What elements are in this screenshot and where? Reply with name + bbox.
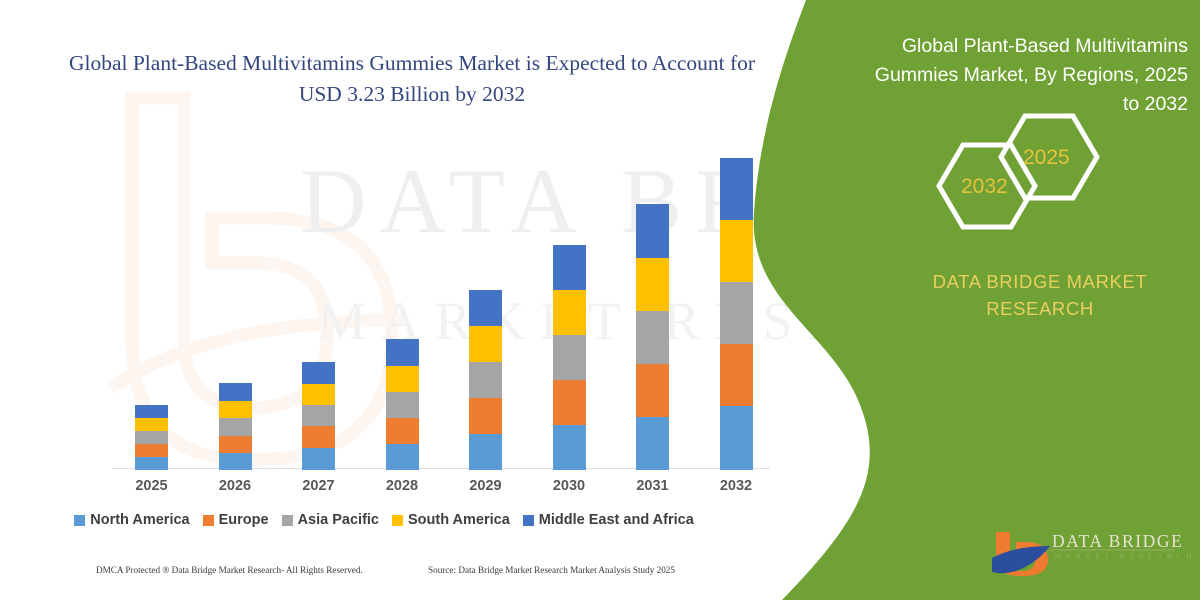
bar-segment-south-america: [720, 220, 753, 282]
x-axis-label-2025: 2025: [122, 478, 182, 494]
hex-label-2032: 2032: [961, 175, 1008, 199]
bar-segment-middle-east-and-africa: [386, 339, 419, 366]
logo-title: DATA BRIDGE: [1052, 531, 1183, 552]
bar-segment-europe: [469, 398, 502, 434]
chart-x-axis-labels: 20252026202720282029203020312032: [110, 478, 770, 500]
hex-label-2025: 2025: [1023, 146, 1070, 170]
legend-swatch-icon: [392, 515, 403, 526]
bar-segment-south-america: [636, 258, 669, 311]
bar-segment-south-america: [302, 384, 335, 405]
bar-segment-south-america: [135, 418, 168, 431]
bar-segment-north-america: [135, 457, 168, 470]
x-axis-label-2026: 2026: [205, 478, 265, 494]
bar-segment-asia-pacific: [135, 431, 168, 444]
bar-segment-asia-pacific: [219, 418, 252, 436]
bar-segment-europe: [219, 436, 252, 453]
legend-label: North America: [90, 512, 189, 528]
bar-segment-middle-east-and-africa: [469, 290, 502, 326]
bar-column-2025: [135, 405, 168, 470]
bar-segment-asia-pacific: [720, 282, 753, 344]
bar-segment-north-america: [720, 406, 753, 470]
x-axis-label-2027: 2027: [289, 478, 349, 494]
bar-segment-asia-pacific: [386, 392, 419, 418]
bar-column-2026: [219, 383, 252, 470]
bar-segment-south-america: [219, 401, 252, 418]
logo-subtitle: MARKET RESEARCH: [1054, 552, 1196, 561]
legend-item-europe[interactable]: Europe: [203, 512, 269, 528]
bar-segment-north-america: [219, 453, 252, 470]
bar-segment-asia-pacific: [636, 311, 669, 364]
bar-segment-europe: [302, 426, 335, 448]
bar-segment-south-america: [386, 366, 419, 392]
bar-segment-north-america: [469, 434, 502, 470]
legend-item-middle-east-and-africa[interactable]: Middle East and Africa: [523, 512, 694, 528]
bar-segment-middle-east-and-africa: [219, 383, 252, 401]
bar-segment-north-america: [553, 425, 586, 470]
x-axis-label-2030: 2030: [539, 478, 599, 494]
legend-label: Asia Pacific: [298, 512, 379, 528]
bar-segment-north-america: [386, 444, 419, 470]
x-axis-label-2029: 2029: [456, 478, 516, 494]
bar-segment-middle-east-and-africa: [302, 362, 335, 384]
bar-column-2031: [636, 204, 669, 470]
bar-segment-middle-east-and-africa: [553, 245, 586, 290]
page-title: Global Plant-Based Multivitamins Gummies…: [62, 48, 762, 110]
legend-item-south-america[interactable]: South America: [392, 512, 510, 528]
bar-segment-asia-pacific: [302, 405, 335, 426]
stacked-bar-chart: [110, 140, 770, 470]
legend-swatch-icon: [203, 515, 214, 526]
bar-segment-europe: [135, 444, 168, 457]
bar-segment-europe: [636, 364, 669, 417]
bar-segment-north-america: [636, 417, 669, 470]
x-axis-label-2028: 2028: [372, 478, 432, 494]
bar-segment-asia-pacific: [553, 335, 586, 380]
footer-copyright: DMCA Protected ® Data Bridge Market Rese…: [96, 565, 363, 575]
x-axis-label-2032: 2032: [706, 478, 766, 494]
data-bridge-logo: DATA BRIDGE MARKET RESEARCH: [990, 528, 1190, 580]
bar-segment-middle-east-and-africa: [720, 158, 753, 220]
legend-swatch-icon: [74, 515, 85, 526]
bar-column-2029: [469, 290, 502, 470]
footer: DMCA Protected ® Data Bridge Market Rese…: [0, 565, 768, 587]
bar-segment-north-america: [302, 448, 335, 470]
bar-segment-middle-east-and-africa: [636, 204, 669, 258]
x-axis-label-2031: 2031: [623, 478, 683, 494]
bar-segment-europe: [553, 380, 586, 425]
hexagon-shapes: [925, 112, 1115, 230]
bar-column-2032: [720, 158, 753, 470]
legend-label: Europe: [219, 512, 269, 528]
year-hexagons: 2025 2032: [925, 112, 1115, 230]
footer-source: Source: Data Bridge Market Research Mark…: [428, 565, 675, 575]
bar-segment-middle-east-and-africa: [135, 405, 168, 418]
chart-legend: North AmericaEuropeAsia PacificSouth Ame…: [0, 512, 768, 528]
bar-column-2027: [302, 362, 335, 470]
bar-column-2028: [386, 339, 419, 470]
bar-segment-asia-pacific: [469, 362, 502, 398]
legend-swatch-icon: [282, 515, 293, 526]
legend-label: Middle East and Africa: [539, 512, 694, 528]
legend-label: South America: [408, 512, 510, 528]
panel-title: Global Plant-Based Multivitamins Gummies…: [858, 32, 1188, 119]
panel-brand: DATA BRIDGE MARKET RESEARCH: [900, 268, 1180, 322]
bar-segment-south-america: [553, 290, 586, 335]
bar-segment-south-america: [469, 326, 502, 362]
bar-column-2030: [553, 245, 586, 470]
bar-segment-europe: [386, 418, 419, 444]
legend-item-north-america[interactable]: North America: [74, 512, 189, 528]
legend-swatch-icon: [523, 515, 534, 526]
legend-item-asia-pacific[interactable]: Asia Pacific: [282, 512, 379, 528]
infographic-canvas: DATA BRIDGE MARKET RESEARCH Global Plant…: [0, 0, 1200, 600]
bar-segment-europe: [720, 344, 753, 406]
